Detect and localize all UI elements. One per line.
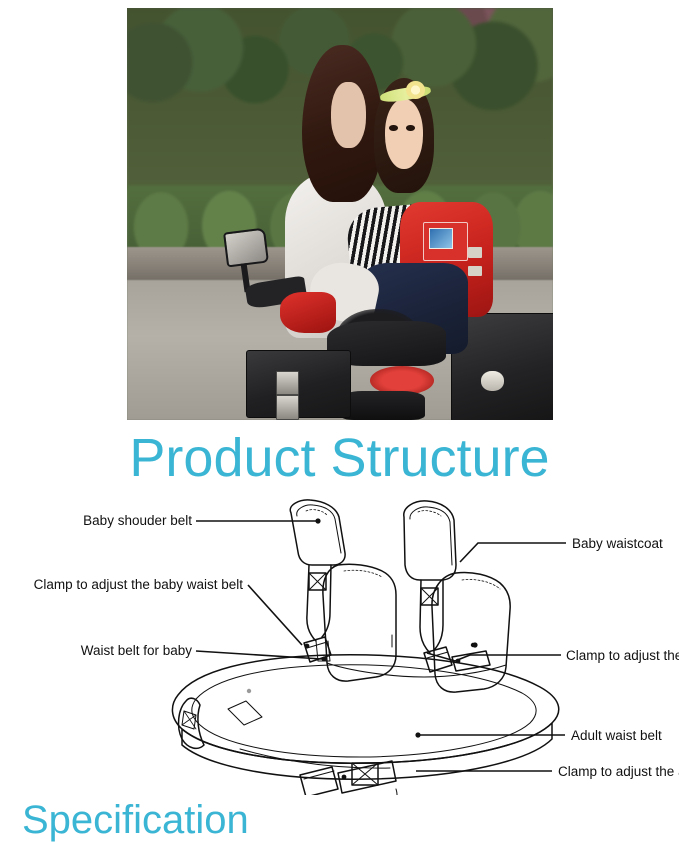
leader-baby-waistcoat	[460, 543, 566, 562]
section-title-product-structure: Product Structure	[0, 428, 679, 488]
headband-flower	[406, 81, 425, 99]
dot-adult-waist-belt	[415, 732, 420, 737]
label-adult-waist-belt: Adult waist belt	[571, 728, 662, 743]
section-title-specification: Specification	[22, 798, 249, 842]
diagram-svg: Baby shouder belt Clamp to adjust the ba…	[0, 495, 679, 795]
label-clamp-baby-waist-belt-left: Clamp to adjust the baby waist belt	[34, 577, 244, 592]
child-eye-right	[406, 125, 414, 131]
vest-reflector-lower	[468, 266, 482, 277]
label-clamp-baby-waist-belt-right: Clamp to adjust the baby waist belt	[566, 648, 679, 663]
label-baby-waistcoat: Baby waistcoat	[572, 536, 663, 551]
pannier-latch-upper	[276, 371, 299, 396]
vest-logo-patch	[429, 228, 452, 249]
label-clamp-adult-waist-belt: Clamp to adjust the adult waist belt	[558, 764, 679, 779]
product-structure-diagram: Baby shouder belt Clamp to adjust the ba…	[0, 495, 679, 795]
child-eye-left	[389, 125, 397, 131]
label-waist-belt-for-baby: Waist belt for baby	[81, 643, 193, 658]
leader-lines	[196, 521, 566, 771]
motorcycle-mirror	[223, 228, 269, 268]
motorcycle-indicator	[481, 371, 504, 392]
product-photo	[127, 8, 553, 420]
vest-reflector-upper	[468, 247, 482, 258]
motorcycle-exhaust	[340, 391, 425, 420]
dot-baby-shoulder-belt	[315, 518, 320, 523]
dot-baby-waistcoat	[472, 642, 477, 647]
pannier-latch-lower	[276, 395, 299, 420]
child-face	[385, 99, 423, 169]
photo-canvas	[127, 8, 553, 420]
label-baby-shoulder-belt: Baby shouder belt	[83, 513, 192, 528]
motorcycle-fuel-tank	[280, 292, 335, 333]
leader-clamp-baby-waist-left	[248, 585, 302, 645]
harness-line-art	[172, 500, 558, 795]
adult-rider-face	[331, 82, 365, 148]
leader-waist-belt-for-baby	[196, 651, 322, 659]
